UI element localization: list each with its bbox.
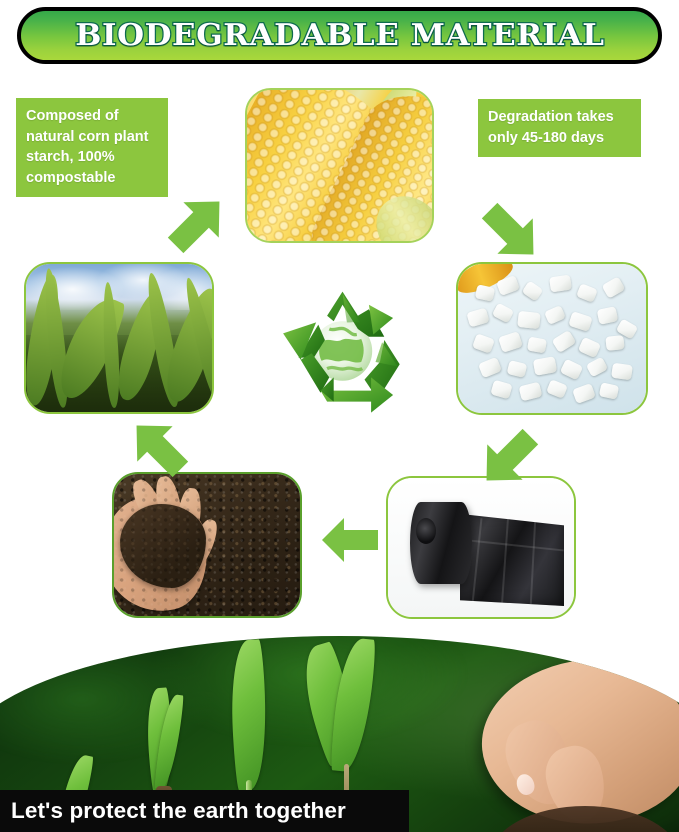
arrow-soil-to-field bbox=[118, 410, 206, 492]
arrow-pellets-to-bag bbox=[468, 414, 556, 496]
hero-caption-bar: Let's protect the earth together bbox=[0, 790, 409, 832]
arrow-bag-to-soil bbox=[318, 512, 396, 568]
image-bioplastic-pellets bbox=[456, 262, 648, 415]
arrow-corn-to-pellets bbox=[464, 188, 552, 270]
arrow-field-to-label bbox=[150, 186, 238, 268]
recycle-globe-icon bbox=[276, 285, 409, 417]
image-corn-field bbox=[24, 262, 214, 414]
callout-left: Composed of natural corn plant starch, 1… bbox=[16, 98, 168, 197]
image-trash-bag-roll bbox=[386, 476, 576, 619]
image-corn-cobs bbox=[245, 88, 434, 243]
callout-right: Degradation takes only 45-180 days bbox=[478, 99, 641, 157]
page-title: BIODEGRADABLE MATERIAL bbox=[75, 18, 604, 53]
header-banner: BIODEGRADABLE MATERIAL bbox=[17, 7, 662, 64]
image-compost-soil bbox=[112, 472, 302, 618]
infographic-root: BIODEGRADABLE MATERIAL Composed of natur… bbox=[0, 0, 679, 832]
hero-caption: Let's protect the earth together bbox=[0, 798, 346, 824]
